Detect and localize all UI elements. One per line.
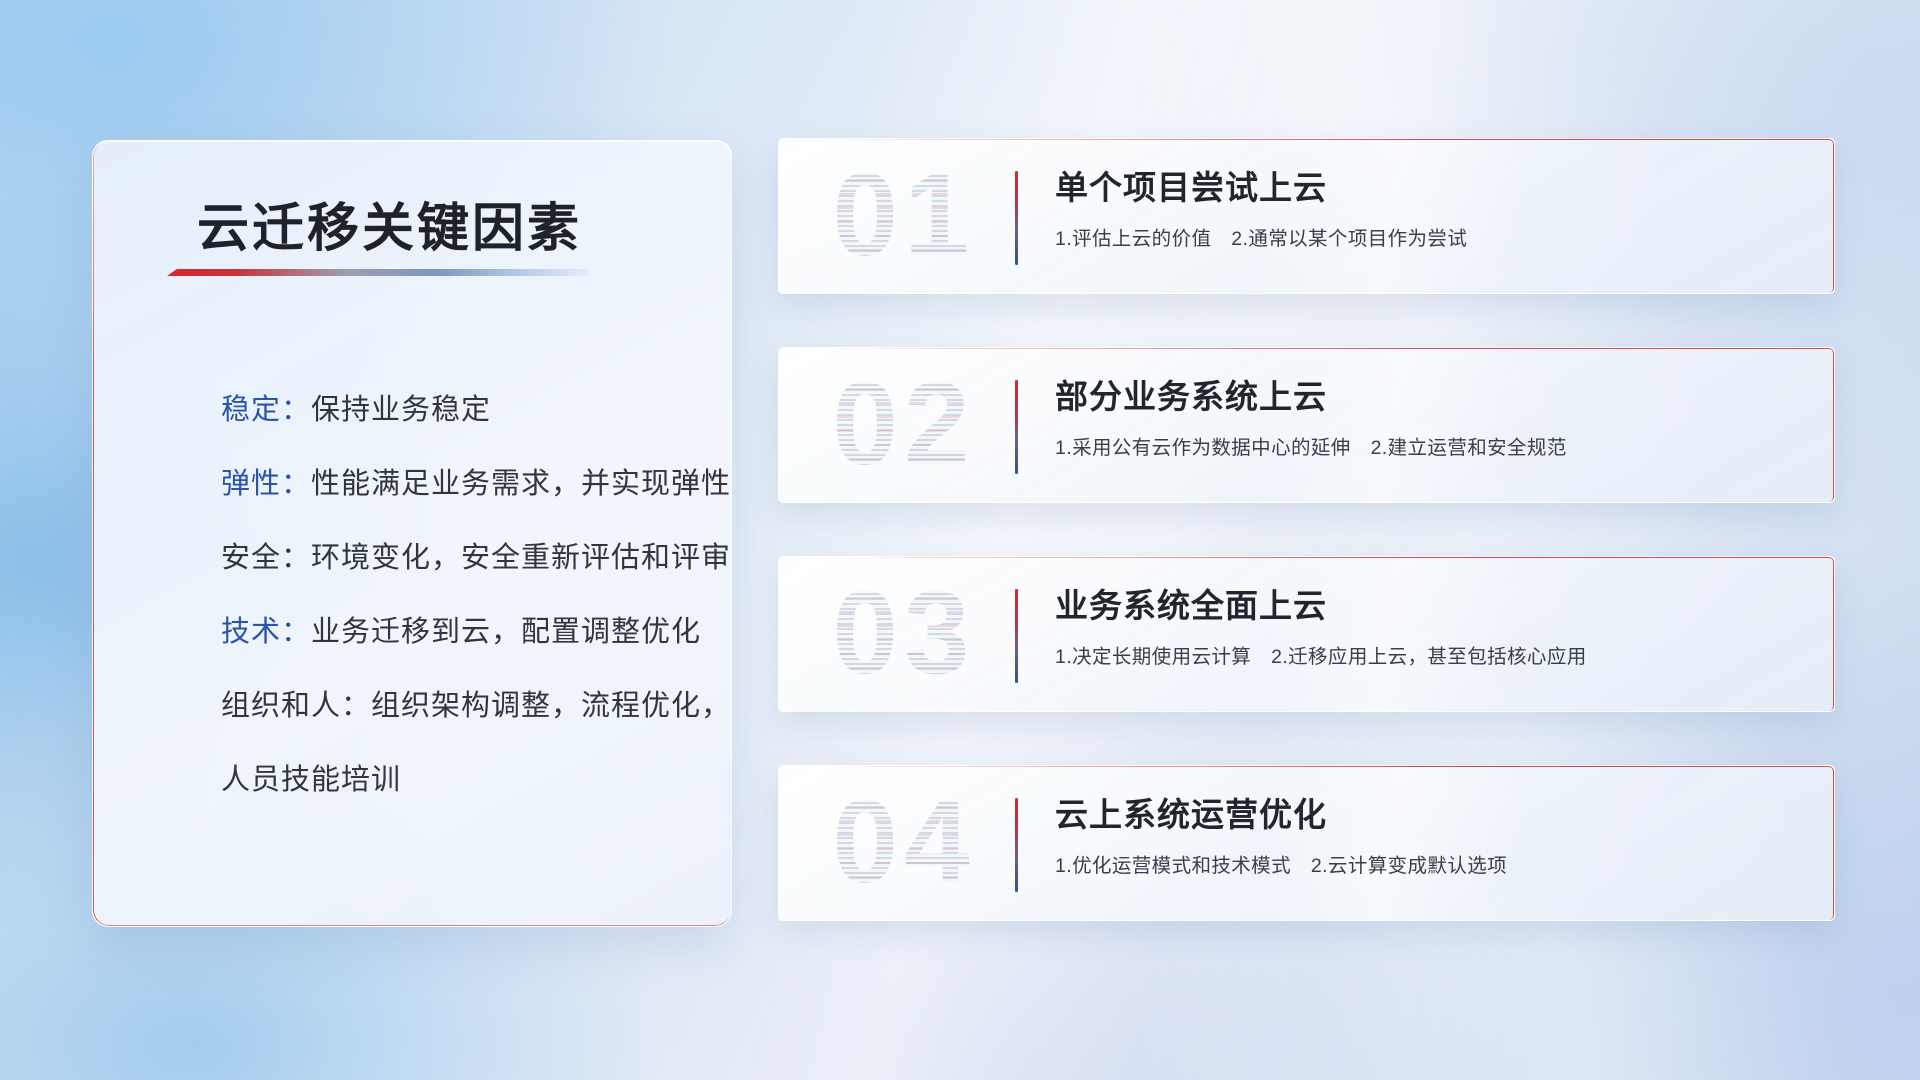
page-title: 云迁移关键因素: [197, 186, 582, 261]
factor-value: 保持业务稳定: [311, 394, 491, 426]
stage-card-02[interactable]: 02 02 部分业务系统上云 1.采用公有云作为数据中心的延伸 2.建立运营和安…: [778, 347, 1835, 503]
factor-row: 技术：业务迁移到云，配置调整优化: [221, 595, 691, 669]
factor-list: 稳定：保持业务稳定 弹性：性能满足业务需求，并实现弹性 安全：环境变化，安全重新…: [221, 373, 691, 817]
stage-subtitle: 1.评估上云的价值 2.通常以某个项目作为尝试: [1055, 225, 1810, 253]
key-factors-panel: 云迁移关键因素 稳定：保持业务稳定 弹性：性能满足业务需求，并实现弹性 安全：环…: [92, 140, 732, 927]
stage-title: 业务系统全面上云: [1055, 583, 1810, 629]
stage-title: 云上系统运营优化: [1055, 792, 1810, 838]
factor-row: 组织和人：组织架构调整，流程优化，: [221, 669, 691, 743]
factor-row-continuation: 人员技能培训: [221, 743, 691, 817]
factor-label: 技术：: [221, 616, 311, 648]
factor-value: 环境变化，安全重新评估和评审: [311, 542, 731, 574]
stage-body: 云上系统运营优化 1.优化运营模式和技术模式 2.云计算变成默认选项: [1055, 792, 1810, 880]
stage-subtitle: 1.决定长期使用云计算 2.迁移应用上云，甚至包括核心应用: [1055, 643, 1810, 671]
migration-stage-list: 01 01 单个项目尝试上云 1.评估上云的价值 2.通常以某个项目作为尝试 0…: [778, 138, 1835, 974]
factor-label: 组织和人：: [221, 690, 371, 722]
stage-card-04[interactable]: 04 04 云上系统运营优化 1.优化运营模式和技术模式 2.云计算变成默认选项: [778, 765, 1835, 921]
factor-value: 组织架构调整，流程优化，: [371, 690, 731, 722]
title-underline-rule: [167, 269, 591, 276]
factor-value: 性能满足业务需求，并实现弹性: [311, 468, 731, 500]
stage-subtitle: 1.优化运营模式和技术模式 2.云计算变成默认选项: [1055, 852, 1810, 880]
factor-row: 稳定：保持业务稳定: [221, 373, 691, 447]
factor-value-continued: 人员技能培训: [221, 764, 401, 796]
factor-value: 业务迁移到云，配置调整优化: [311, 616, 701, 648]
stage-number: 01: [809, 145, 999, 285]
stage-subtitle: 1.采用公有云作为数据中心的延伸 2.建立运营和安全规范: [1055, 434, 1810, 462]
factor-label: 稳定：: [221, 394, 311, 426]
stage-card-01[interactable]: 01 01 单个项目尝试上云 1.评估上云的价值 2.通常以某个项目作为尝试: [778, 138, 1835, 294]
stage-body: 单个项目尝试上云 1.评估上云的价值 2.通常以某个项目作为尝试: [1055, 165, 1810, 253]
stage-title: 部分业务系统上云: [1055, 374, 1810, 420]
factor-row: 安全：环境变化，安全重新评估和评审: [221, 521, 691, 595]
stage-number: 03: [809, 563, 999, 703]
stage-card-03[interactable]: 03 03 业务系统全面上云 1.决定长期使用云计算 2.迁移应用上云，甚至包括…: [778, 556, 1835, 712]
stage-divider-rule: [1015, 798, 1018, 892]
stage-divider-rule: [1015, 380, 1018, 474]
stage-divider-rule: [1015, 589, 1018, 683]
factor-label: 弹性：: [221, 468, 311, 500]
stage-body: 业务系统全面上云 1.决定长期使用云计算 2.迁移应用上云，甚至包括核心应用: [1055, 583, 1810, 671]
factor-label: 安全：: [221, 542, 311, 574]
slide-canvas: 云迁移关键因素 稳定：保持业务稳定 弹性：性能满足业务需求，并实现弹性 安全：环…: [0, 0, 1920, 1080]
stage-number: 04: [809, 772, 999, 912]
stage-divider-rule: [1015, 171, 1018, 265]
stage-title: 单个项目尝试上云: [1055, 165, 1810, 211]
stage-number: 02: [809, 354, 999, 494]
stage-body: 部分业务系统上云 1.采用公有云作为数据中心的延伸 2.建立运营和安全规范: [1055, 374, 1810, 462]
factor-row: 弹性：性能满足业务需求，并实现弹性: [221, 447, 691, 521]
